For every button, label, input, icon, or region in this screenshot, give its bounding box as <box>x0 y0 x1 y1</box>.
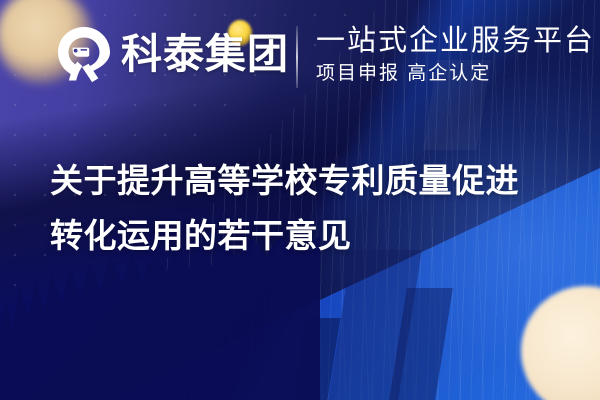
banner-header: 科泰集团 一站式企业服务平台 项目申报 高企认定 <box>0 0 600 104</box>
tagline-main: 一站式企业服务平台 <box>316 24 595 59</box>
page-title-line-1: 关于提升高等学校专利质量促进 <box>50 153 570 208</box>
tagline-sub: 项目申报 高企认定 <box>316 63 595 86</box>
ketai-circle-logo-icon <box>55 25 113 83</box>
brand-lockup[interactable]: 科泰集团 <box>55 25 289 83</box>
page-title-line-2: 转化运用的若干意见 <box>50 208 570 263</box>
promo-banner: 科泰集团 一站式企业服务平台 项目申报 高企认定 关于提升高等学校专利质量促进 … <box>0 0 600 400</box>
brand-name: 科泰集团 <box>121 34 289 75</box>
page-title: 关于提升高等学校专利质量促进 转化运用的若干意见 <box>50 153 570 263</box>
header-divider <box>296 26 298 88</box>
tagline-group: 一站式企业服务平台 项目申报 高企认定 <box>316 24 595 86</box>
